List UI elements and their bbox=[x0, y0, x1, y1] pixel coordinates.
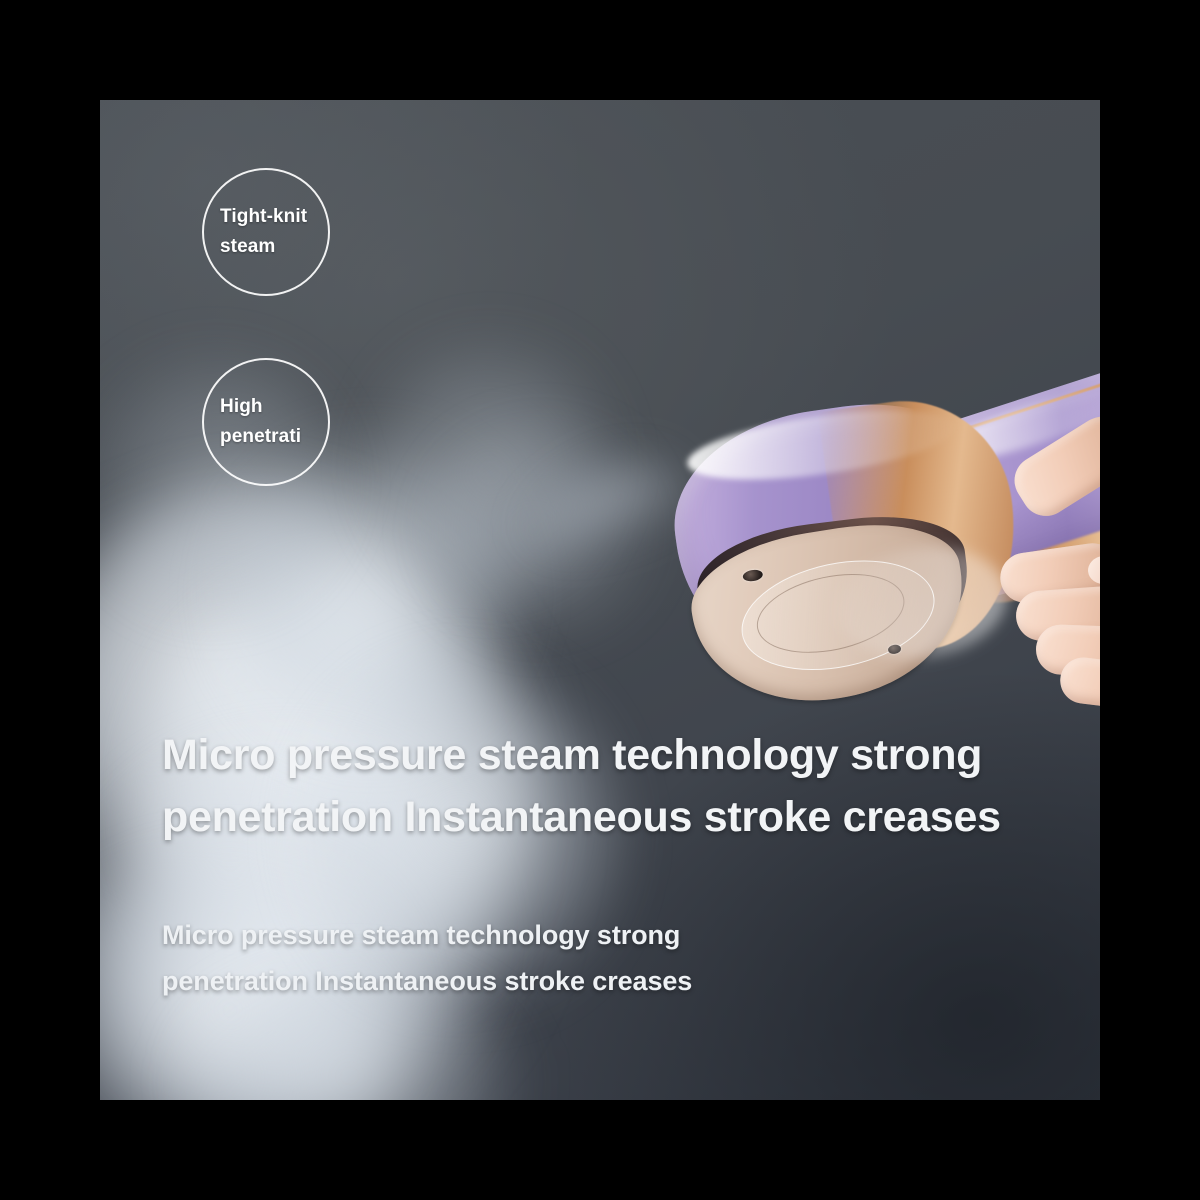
headline: Micro pressure steam technology strong p… bbox=[162, 724, 1062, 848]
badge-line-1: High bbox=[220, 392, 328, 422]
subtitle-line-2: penetration Instantaneous stroke creases bbox=[162, 958, 922, 1004]
badge-line-2: steam bbox=[220, 232, 328, 262]
badge-line-2: penetrati bbox=[220, 422, 328, 452]
subtitle: Micro pressure steam technology strong p… bbox=[162, 912, 922, 1004]
subtitle-line-1: Micro pressure steam technology strong bbox=[162, 912, 922, 958]
headline-line-2: penetration Instantaneous stroke creases bbox=[162, 786, 1062, 848]
badge-line-1: Tight-knit bbox=[220, 202, 328, 232]
steam-nozzle-icon bbox=[742, 569, 763, 583]
hand-holding-steamer bbox=[960, 430, 1100, 730]
outer-frame: Tight-knit steam High penetrati Micro pr… bbox=[0, 0, 1200, 1200]
product-photo: Tight-knit steam High penetrati Micro pr… bbox=[100, 100, 1100, 1100]
garment-steamer bbox=[660, 400, 1100, 730]
badge-tight-knit-steam: Tight-knit steam bbox=[202, 168, 330, 296]
badge-high-penetration: High penetrati bbox=[202, 358, 330, 486]
headline-line-1: Micro pressure steam technology strong bbox=[162, 724, 1062, 786]
